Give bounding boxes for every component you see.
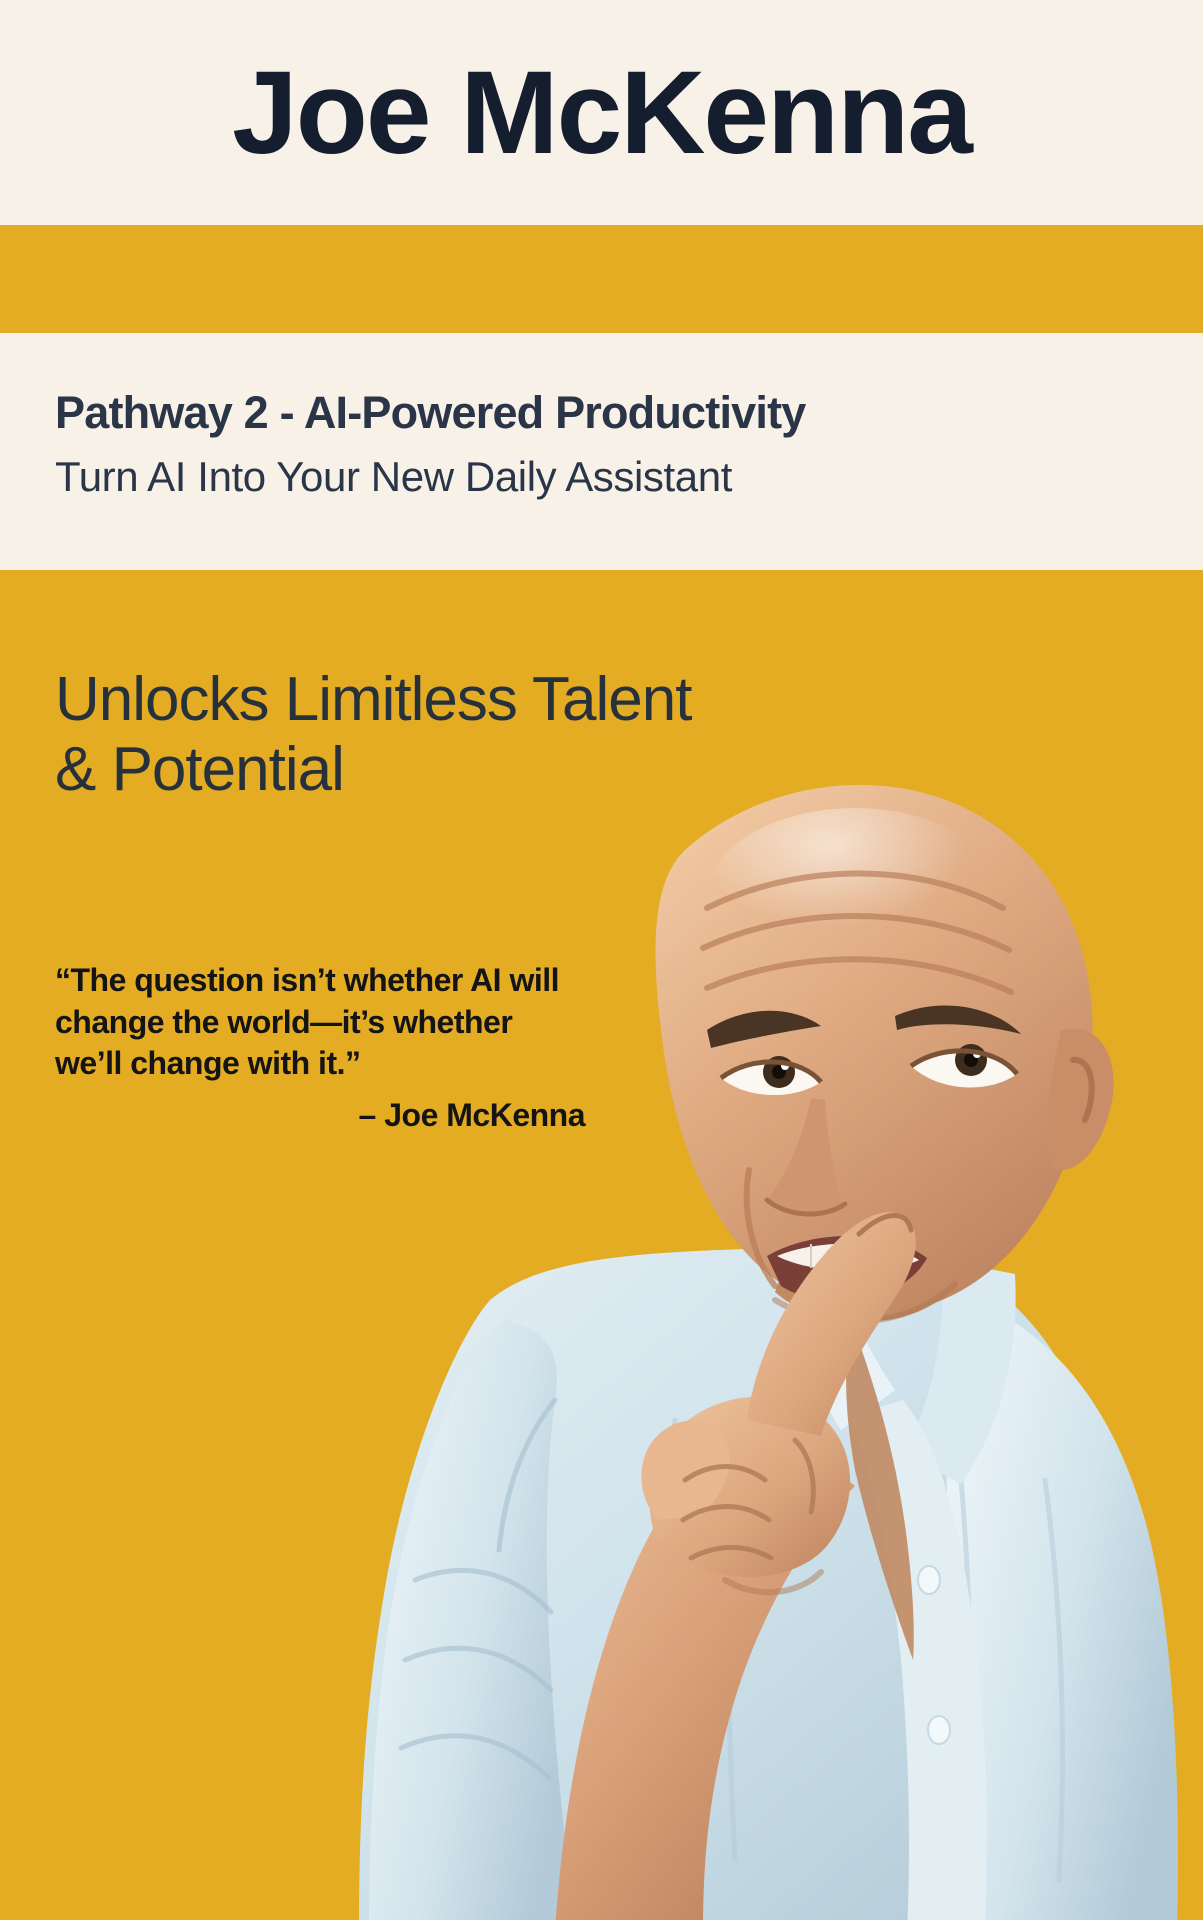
quote-line-1: “The question isn’t whether AI will	[55, 960, 695, 1002]
poster-canvas: Joe McKenna Pathway 2 - AI-Powered Produ…	[0, 0, 1203, 1920]
headline-line-1: Unlocks Limitless Talent	[55, 665, 955, 735]
pathway-band: Pathway 2 - AI-Powered Productivity Turn…	[0, 333, 1203, 570]
main-content-band: Unlocks Limitless Talent & Potential	[0, 570, 1203, 1920]
pathway-subtitle: Turn AI Into Your New Daily Assistant	[55, 453, 732, 501]
quote-line-2: change the world—it’s whether	[55, 1002, 695, 1044]
portrait-photo	[255, 700, 1203, 1920]
eyes	[721, 1044, 1017, 1095]
headline: Unlocks Limitless Talent & Potential	[55, 665, 955, 805]
mouth	[767, 1236, 927, 1301]
head-shape	[655, 785, 1113, 1322]
name-header-band: Joe McKenna	[0, 0, 1203, 225]
yellow-divider-band	[0, 225, 1203, 333]
headline-line-2: & Potential	[55, 735, 955, 805]
shirt-shape	[359, 1244, 1178, 1920]
quote-line-3: we’ll change with it.”	[55, 1043, 695, 1085]
pathway-title: Pathway 2 - AI-Powered Productivity	[55, 389, 806, 436]
quote-attribution: – Joe McKenna	[55, 1097, 695, 1134]
quote-block: “The question isn’t whether AI will chan…	[55, 960, 695, 1134]
shirt-collar	[775, 1240, 1016, 1920]
page-title: Joe McKenna	[232, 54, 971, 172]
hand-on-chin	[555, 1212, 916, 1920]
